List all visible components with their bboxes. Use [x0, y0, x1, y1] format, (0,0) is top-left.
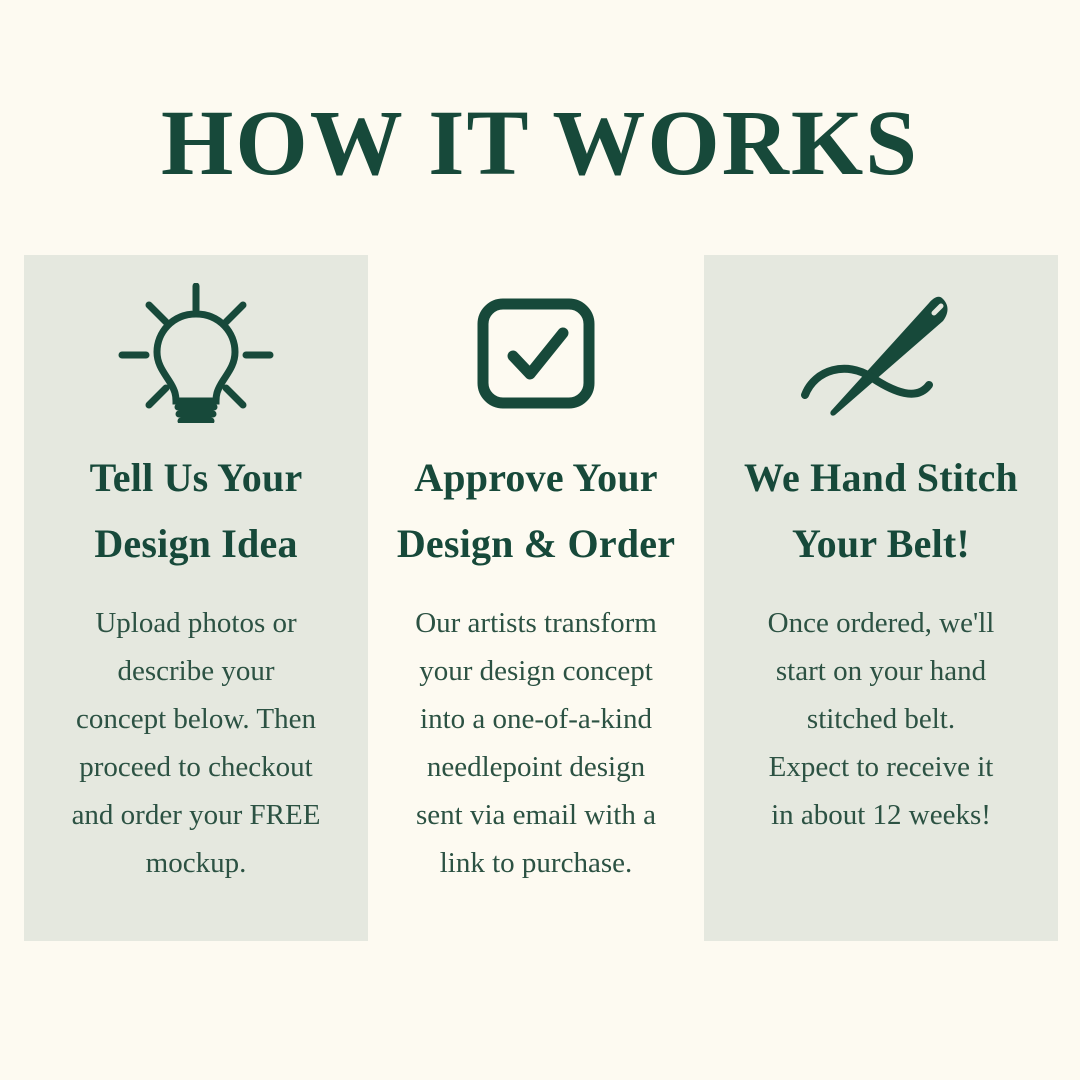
checkbox-check-icon: [471, 283, 601, 423]
steps-row: Tell Us Your Design Idea Upload photos o…: [0, 255, 1080, 945]
step-body: Upload photos or describe your concept b…: [70, 599, 322, 887]
step-heading: Approve Your Design & Order: [371, 445, 701, 577]
how-it-works-poster: HOW IT WORKS: [0, 0, 1080, 1080]
step-card-2: Approve Your Design & Order Our artists …: [371, 255, 701, 941]
step-heading: We Hand Stitch Your Belt!: [705, 445, 1057, 577]
step-card-3: We Hand Stitch Your Belt! Once ordered, …: [704, 255, 1058, 941]
step-body: Our artists transform your design concep…: [400, 599, 672, 887]
step-body: Once ordered, we'll start on your hand s…: [767, 599, 995, 839]
needle-thread-icon: [791, 283, 971, 423]
page-title: HOW IT WORKS: [0, 97, 1080, 190]
lightbulb-icon: [116, 283, 276, 423]
step-heading: Tell Us Your Design Idea: [30, 445, 362, 577]
step-card-1: Tell Us Your Design Idea Upload photos o…: [24, 255, 368, 941]
